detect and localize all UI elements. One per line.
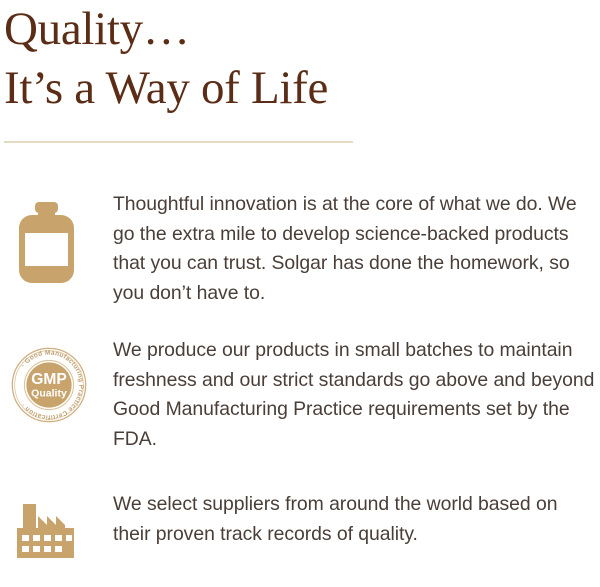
feature-icon-cell bbox=[0, 490, 113, 559]
feature-item: · Good Manufacturing Practice Certificat… bbox=[0, 336, 600, 454]
feature-icon-cell: · Good Manufacturing Practice Certificat… bbox=[0, 336, 113, 424]
heading-divider bbox=[4, 141, 353, 143]
gmp-quality-seal-icon: · Good Manufacturing Practice Certificat… bbox=[10, 346, 88, 424]
feature-list: Thoughtful innovation is at the core of … bbox=[0, 190, 600, 559]
factory-icon bbox=[16, 504, 78, 559]
heading-line-1: Quality… bbox=[4, 2, 564, 57]
feature-text: We produce our products in small batches… bbox=[113, 336, 600, 454]
quality-page: { "heading": { "line1": "Quality\u2026",… bbox=[0, 0, 600, 587]
seal-center-bottom: Quality bbox=[31, 388, 67, 400]
feature-icon-cell bbox=[0, 190, 113, 284]
supplement-jar-icon bbox=[18, 202, 75, 284]
heading-line-2: It’s a Way of Life bbox=[4, 61, 564, 116]
feature-item: We select suppliers from around the worl… bbox=[0, 490, 600, 559]
feature-item: Thoughtful innovation is at the core of … bbox=[0, 190, 600, 308]
feature-text: Thoughtful innovation is at the core of … bbox=[113, 190, 600, 308]
page-heading: Quality… It’s a Way of Life bbox=[4, 2, 564, 116]
seal-center-top: GMP bbox=[31, 371, 67, 388]
feature-text: We select suppliers from around the worl… bbox=[113, 490, 600, 549]
